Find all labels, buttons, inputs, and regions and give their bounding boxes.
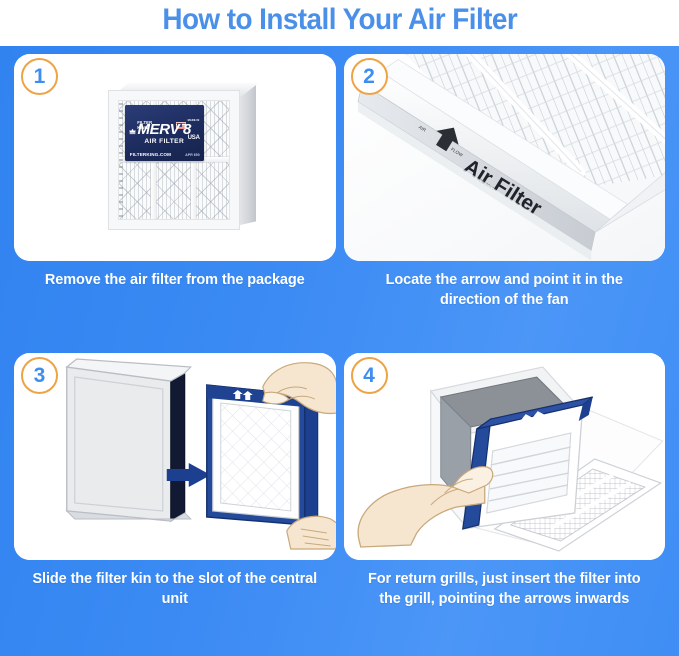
step-4-card: 4	[344, 353, 666, 560]
step-number: 1	[34, 66, 46, 87]
step-3-badge: 3	[21, 357, 58, 394]
page-title: How to Install Your Air Filter	[162, 1, 517, 39]
step-number: 4	[363, 365, 375, 386]
product-subtitle: AIR FILTER	[125, 138, 204, 146]
step-4-caption: For return grills, just insert the filte…	[344, 569, 666, 609]
apr-rating: APR 650	[185, 153, 199, 157]
step-1-caption: Remove the air filter from the package	[14, 270, 336, 290]
step-1: FILTER KING MADE IN USA	[14, 54, 336, 353]
slide-filter-illustration	[14, 353, 336, 560]
filter-product-photo: FILTER KING MADE IN USA	[14, 54, 336, 261]
step-2-caption: Locate the arrow and point it in the dir…	[344, 270, 666, 310]
step-3: 3 Slide the filter kin to the slot of th…	[14, 353, 336, 652]
step-3-card: 3	[14, 353, 336, 560]
filter-perforation-strip	[119, 103, 123, 217]
infographic-page: How to Install Your Air Filter	[0, 0, 679, 656]
product-merv-rating: MERV 8	[125, 122, 204, 138]
steps-grid: FILTER KING MADE IN USA	[0, 46, 679, 656]
step-4-badge: 4	[351, 357, 388, 394]
step-2-card: AIR FLOW Air Filter 20x20x1 2	[344, 54, 666, 261]
step-3-caption: Slide the filter kin to the slot of the …	[14, 569, 336, 609]
label-bottom-row: FILTERKING.COM APR 650	[130, 152, 200, 157]
brand-website: FILTERKING.COM	[130, 152, 171, 157]
step-1-card: FILTER KING MADE IN USA	[14, 54, 336, 261]
step-2-badge: 2	[351, 58, 388, 95]
header: How to Install Your Air Filter	[0, 0, 679, 46]
air-filter-illustration: FILTER KING MADE IN USA	[108, 83, 256, 233]
step-2: AIR FLOW Air Filter 20x20x1 2 Locate the…	[344, 54, 666, 353]
filter-corner-photo: AIR FLOW Air Filter 20x20x1	[344, 54, 666, 261]
filter-front-face: FILTER KING MADE IN USA	[108, 90, 240, 230]
return-grill-illustration	[344, 353, 666, 560]
return-grill-svg	[344, 353, 666, 560]
step-4: 4 For return grills, just insert the fil…	[344, 353, 666, 652]
step-number: 3	[34, 365, 46, 386]
step-number: 2	[363, 66, 375, 87]
filter-product-label: FILTER KING MADE IN USA	[125, 105, 204, 161]
slide-filter-svg	[14, 353, 336, 560]
filter-corner-svg: AIR FLOW Air Filter 20x20x1	[344, 54, 666, 261]
step-1-badge: 1	[21, 58, 58, 95]
